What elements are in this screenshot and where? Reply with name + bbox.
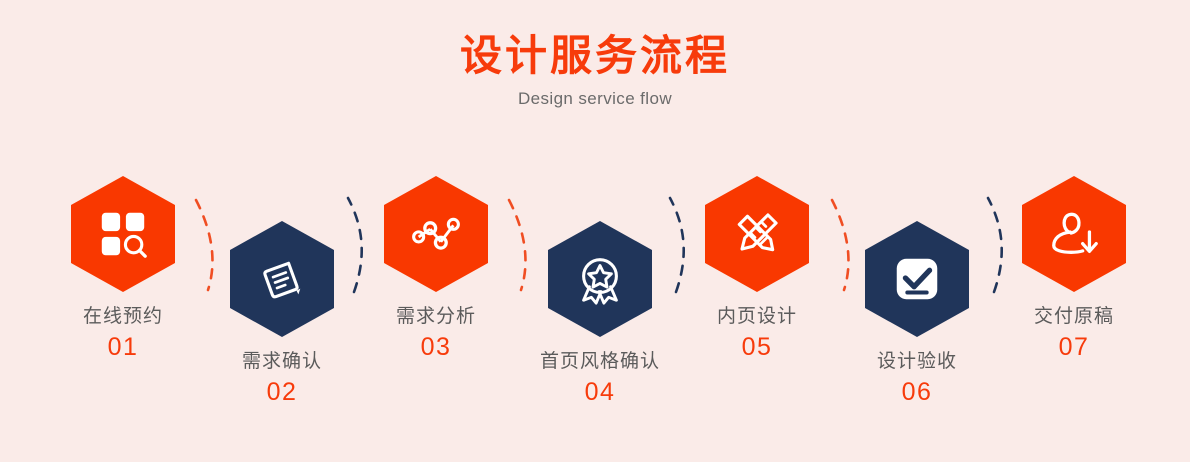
- step-05[interactable]: 内页设计 05: [672, 176, 842, 360]
- step-01-label: 在线预约: [38, 306, 208, 328]
- step-06-number: 06: [832, 380, 1002, 405]
- step-02-number: 02: [197, 380, 367, 405]
- page-subtitle: Design service flow: [0, 89, 1190, 109]
- step-01-hexagon[interactable]: [71, 176, 175, 292]
- step-03[interactable]: 需求分析 03: [351, 176, 521, 360]
- step-02-hexagon[interactable]: [230, 221, 334, 337]
- step-04[interactable]: 首页风格确认 04: [515, 221, 685, 405]
- step-07[interactable]: 交付原稿 07: [989, 176, 1159, 360]
- user-download-icon: [1047, 207, 1101, 261]
- step-01-number: 01: [38, 335, 208, 360]
- step-07-hexagon[interactable]: [1022, 176, 1126, 292]
- step-02-label: 需求确认: [197, 351, 367, 373]
- step-06-hexagon[interactable]: [865, 221, 969, 337]
- step-07-number: 07: [989, 335, 1159, 360]
- step-05-number: 05: [672, 335, 842, 360]
- step-05-hexagon[interactable]: [705, 176, 809, 292]
- page-title: 设计服务流程: [0, 34, 1190, 78]
- grid-search-icon: [96, 207, 150, 261]
- step-03-hexagon[interactable]: [384, 176, 488, 292]
- step-04-hexagon[interactable]: [548, 221, 652, 337]
- step-05-label: 内页设计: [672, 306, 842, 328]
- step-03-label: 需求分析: [351, 306, 521, 328]
- step-04-number: 04: [515, 380, 685, 405]
- step-06[interactable]: 设计验收 06: [832, 221, 1002, 405]
- pencil-ruler-icon: [730, 207, 784, 261]
- header: 设计服务流程 Design service flow: [0, 34, 1190, 109]
- step-06-label: 设计验收: [832, 351, 1002, 373]
- network-nodes-icon: [409, 207, 463, 261]
- award-star-icon: [573, 252, 627, 306]
- infographic-canvas: 设计服务流程 Design service flow 在线预约 01: [0, 0, 1190, 462]
- checkbox-approve-icon: [890, 252, 944, 306]
- step-02[interactable]: 需求确认 02: [197, 221, 367, 405]
- step-07-label: 交付原稿: [989, 306, 1159, 328]
- step-04-label: 首页风格确认: [515, 351, 685, 373]
- step-03-number: 03: [351, 335, 521, 360]
- step-01[interactable]: 在线预约 01: [38, 176, 208, 360]
- document-contract-icon: [255, 252, 309, 306]
